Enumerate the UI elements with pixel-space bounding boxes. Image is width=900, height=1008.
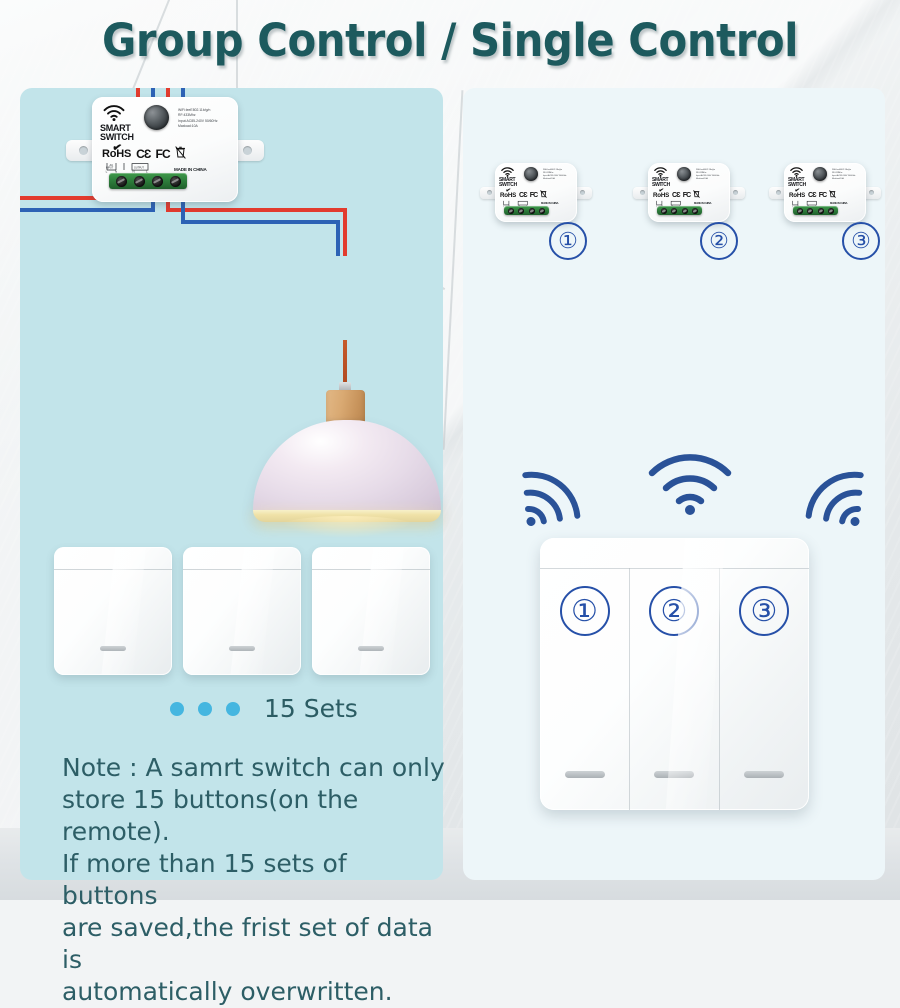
three-gang-remote-switch[interactable]: ① ② ③ [540, 538, 809, 810]
note-line-3: If more than 15 sets of buttons [62, 848, 447, 912]
screw-hole-icon [487, 190, 492, 195]
terminal-screw [807, 208, 813, 214]
set-dot [170, 702, 184, 716]
screw-hole-icon [640, 190, 645, 195]
certification-marks: ✔ RoHS CƐ FC [653, 190, 700, 200]
rohs-mark: ✔ RoHS [500, 192, 516, 199]
switch-indicator-led [229, 646, 255, 651]
wifi-icon [790, 167, 803, 177]
screw-hole-icon [733, 190, 738, 195]
module-number-3: ③ [842, 222, 880, 260]
module-body: SMART SWITCH WiFi:IeeE802.11b/g/n RF:433… [784, 163, 866, 222]
module-brand: SMART SWITCH [100, 124, 134, 142]
lamp-cord [343, 340, 347, 384]
terminal-block [657, 206, 702, 215]
remote-gang-3[interactable]: ③ [719, 568, 809, 810]
terminal-screw [797, 208, 803, 214]
note-line-2: store 15 buttons(on the remote). [62, 784, 447, 848]
made-in-label: MADE IN CHINA [694, 202, 711, 205]
screw-hole-icon [869, 190, 874, 195]
terminal-screw [682, 208, 688, 214]
spec-line-4: Maxload:10A [832, 178, 855, 181]
terminal-screw [116, 176, 127, 187]
terminal-block [793, 206, 838, 215]
terminal-screw [818, 208, 824, 214]
gang-number-1: ① [560, 586, 610, 636]
terminal-screw [661, 208, 667, 214]
set-dot [226, 702, 240, 716]
made-in-label: MADE IN CHINA [541, 202, 558, 205]
lamp-shade [253, 420, 441, 518]
terminal-screw [170, 176, 181, 187]
wall-switch-2[interactable] [183, 547, 301, 675]
gang-number-3: ③ [739, 586, 789, 636]
terminal-screw [134, 176, 145, 187]
note-line-4: are saved,the frist set of data is [62, 912, 447, 976]
module-body: SMART SWITCH WiFi:IeeE802.11b/g/n RF:433… [495, 163, 577, 222]
set-dot [198, 702, 212, 716]
terminal-screw [152, 176, 163, 187]
module-spec: WiFi:IeeE802.11b/g/n RF:433Mhz Input:AC8… [178, 108, 218, 129]
module-spec: WiFi:IeeE802.11b/g/n RF:433Mhz Input:AC8… [696, 169, 719, 181]
fc-mark: FC [530, 192, 538, 199]
module-spec: WiFi:IeeE802.11b/g/n RF:433Mhz Input:AC8… [832, 169, 855, 181]
rohs-mark: ✔ RoHS [653, 192, 669, 199]
wall-switch-3[interactable] [312, 547, 430, 675]
switch-gloss [100, 547, 147, 675]
switch-gloss [229, 547, 276, 675]
terminal-block [504, 206, 549, 215]
weee-bin-icon [175, 146, 186, 162]
terminal-labels: AC INPUT L N OUTPUT N L [104, 162, 170, 173]
terminal-screw [671, 208, 677, 214]
lamp-glow [277, 516, 417, 538]
smart-switch-module-1[interactable]: SMART SWITCH WiFi:IeeE802.11b/g/n RF:433… [495, 163, 577, 222]
terminal-screw [518, 208, 524, 214]
switch-gloss [358, 547, 405, 675]
ce-mark: CƐ [136, 147, 150, 161]
lamp-wood-cap [326, 390, 365, 424]
smart-switch-module-3[interactable]: SMART SWITCH WiFi:IeeE802.11b/g/n RF:433… [784, 163, 866, 222]
terminal-screw [692, 208, 698, 214]
note-line-1: Note : A samrt switch can only [62, 752, 447, 784]
switch-indicator-led [358, 646, 384, 651]
fc-mark: FC [683, 192, 691, 199]
wifi-icon [654, 167, 667, 177]
ce-mark: CƐ [672, 192, 680, 199]
fc-mark: FC [156, 147, 170, 161]
weee-bin-icon [693, 190, 700, 200]
terminal-screw [529, 208, 535, 214]
note-line-5: automatically overwritten. [62, 976, 447, 1008]
module-number-2: ② [700, 222, 738, 260]
wifi-icon [501, 167, 514, 177]
pendant-lamp [225, 340, 400, 480]
module-spec: WiFi:IeeE802.11b/g/n RF:433Mhz Input:AC8… [543, 169, 566, 181]
weee-bin-icon [540, 190, 547, 200]
sets-label: 15 Sets [264, 694, 358, 723]
remote-gang-1[interactable]: ① [540, 568, 629, 810]
group-control-panel: 15 Sets Note : A samrt switch can only s… [20, 88, 443, 880]
weee-bin-icon [829, 190, 836, 200]
gang-indicator-led [565, 771, 605, 778]
screw-hole-icon [580, 190, 585, 195]
certification-marks: ✔ RoHS CƐ FC [102, 146, 186, 162]
note-block: Note : A samrt switch can only store 15 … [62, 752, 447, 1008]
terminal-block [109, 173, 187, 189]
terminal-screw [539, 208, 545, 214]
antenna-dome [813, 167, 827, 181]
module-body: SMART SWITCH WiFi:IeeE802.11b/g/n RF:433… [92, 97, 238, 202]
switch-indicator-led [100, 646, 126, 651]
antenna-dome [677, 167, 691, 181]
terminal-screw [508, 208, 514, 214]
wifi-icon [103, 105, 125, 121]
module-body: SMART SWITCH WiFi:IeeE802.11b/g/n RF:433… [648, 163, 730, 222]
certification-marks: ✔ RoHS CƐ FC [789, 190, 836, 200]
wifi-signal-center-icon [645, 446, 735, 516]
module-number-1: ① [549, 222, 587, 260]
page-title: Group Control / Single Control [32, 14, 869, 67]
smart-switch-module-2[interactable]: SMART SWITCH WiFi:IeeE802.11b/g/n RF:433… [648, 163, 730, 222]
ce-mark: CƐ [519, 192, 527, 199]
rohs-mark: ✔ RoHS [789, 192, 805, 199]
screw-hole-icon [776, 190, 781, 195]
certification-marks: ✔ RoHS CƐ FC [500, 190, 547, 200]
made-in-label: MADE IN CHINA [174, 167, 207, 172]
spec-line-4: Maxload:10A [543, 178, 566, 181]
gang-indicator-led [744, 771, 784, 778]
spec-line-4: Maxload:10A [696, 178, 719, 181]
made-in-label: MADE IN CHINA [830, 202, 847, 205]
screw-hole-icon [243, 146, 252, 155]
smart-switch-module-main[interactable]: SMART SWITCH WiFi:IeeE802.11b/g/n RF:433… [92, 97, 238, 202]
svg-text:OUTPUT: OUTPUT [134, 166, 144, 169]
screw-hole-icon [79, 146, 88, 155]
antenna-dome [144, 105, 169, 130]
wall-switch-1[interactable] [54, 547, 172, 675]
rohs-mark: ✔ RoHS [102, 148, 131, 160]
spec-line-4: Maxload:10A [178, 124, 218, 129]
fc-mark: FC [819, 192, 827, 199]
sets-indicator-row: 15 Sets [170, 694, 358, 723]
ce-mark: CƐ [808, 192, 816, 199]
terminal-screw [828, 208, 834, 214]
antenna-dome [524, 167, 538, 181]
